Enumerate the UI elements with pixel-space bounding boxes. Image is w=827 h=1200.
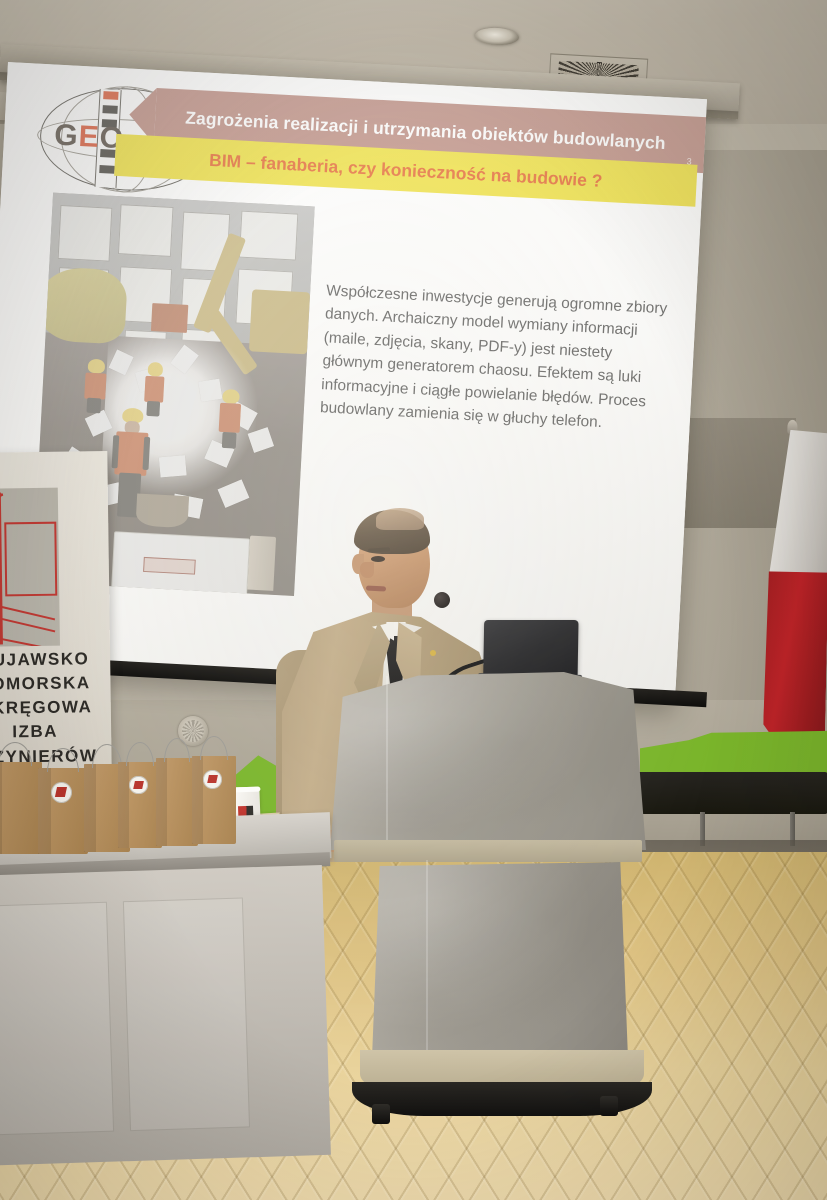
microphone-head-icon bbox=[434, 592, 450, 608]
bridge-artwork-icon bbox=[0, 488, 60, 648]
rollup-line-3: OKRĘGOWA bbox=[0, 695, 111, 721]
gift-bag bbox=[0, 762, 42, 854]
lectern-caster-right bbox=[600, 1096, 618, 1116]
logo-text-e: E bbox=[78, 120, 101, 154]
gift-bag bbox=[192, 756, 236, 844]
bag-sticker-icon bbox=[129, 776, 147, 794]
presenter-laptop bbox=[483, 620, 578, 680]
lectern-mid-band bbox=[334, 840, 642, 862]
bridge-pylon bbox=[0, 492, 3, 644]
lectern-upper bbox=[330, 672, 646, 850]
photo-wheelbarrow-icon bbox=[135, 494, 189, 528]
photo-worker-1 bbox=[83, 358, 107, 414]
flag-red-band bbox=[763, 571, 827, 759]
presenter-mouth bbox=[366, 585, 386, 591]
presenter-nose bbox=[360, 562, 374, 578]
display-table-body bbox=[0, 865, 331, 1166]
photo-rubber-stamp-icon bbox=[247, 535, 276, 591]
slide-body-text: Współczesne inwestycje generują ogromne … bbox=[319, 279, 678, 438]
photo-red-stamp-mark bbox=[143, 557, 196, 575]
lectern-lower-seam bbox=[426, 860, 428, 1056]
photo-barrier bbox=[151, 303, 189, 332]
lectern-caster-left bbox=[372, 1104, 390, 1124]
table-panel-1 bbox=[0, 902, 114, 1136]
gift-bag bbox=[38, 768, 88, 854]
lectern-upper-seam bbox=[386, 676, 388, 850]
bridge-frame bbox=[4, 522, 57, 597]
rollup-line-1: KUJAWSKO bbox=[0, 647, 110, 673]
lectern-lower bbox=[372, 858, 628, 1058]
polish-flag bbox=[763, 429, 827, 752]
bag-sticker-icon bbox=[51, 782, 72, 803]
bench-seat bbox=[632, 772, 827, 814]
table-panel-2 bbox=[123, 897, 250, 1131]
presenter-forehead bbox=[376, 508, 424, 530]
logo-text-g: G bbox=[54, 119, 80, 153]
presenter-eye bbox=[371, 556, 385, 562]
presenter-lapel-pin-icon bbox=[430, 650, 436, 656]
photo-worker-3 bbox=[218, 389, 242, 449]
flag-white-band bbox=[766, 429, 827, 578]
rollup-line-2: POMORSKA bbox=[0, 671, 111, 697]
presentation-scene-photo: GEO - AR Zagrożenia realizacji i utrzyma… bbox=[0, 0, 827, 1200]
bag-sticker-icon bbox=[203, 770, 221, 788]
